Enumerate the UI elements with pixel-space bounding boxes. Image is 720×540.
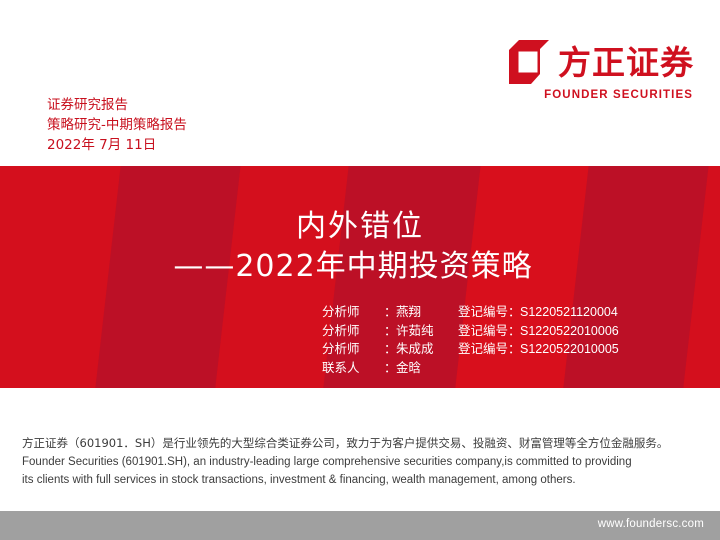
disclaimer-english-line1: Founder Securities (601901.SH), an indus…	[22, 453, 702, 471]
analyst-role-label: 联系人	[322, 359, 384, 377]
company-disclaimer: 方正证券（601901．SH）是行业领先的大型综合类证券公司，致力于为客户提供交…	[22, 434, 702, 489]
registration-number: S1220521120004	[520, 304, 618, 322]
report-type-label: 证券研究报告	[47, 95, 187, 115]
analyst-list: 分析师：燕翔登记编号：S1220521120004分析师：许茹纯登记编号：S12…	[322, 303, 619, 376]
report-meta: 证券研究报告 策略研究-中期策略报告 2022年 7月 11日	[47, 95, 187, 155]
analyst-colon: ：	[384, 340, 396, 358]
registration-number: S1220522010005	[520, 341, 619, 359]
analyst-name: 燕翔	[396, 303, 458, 321]
company-logo: 方正证券 FOUNDER SECURITIES	[509, 40, 694, 101]
analyst-colon: ：	[384, 359, 396, 377]
analyst-role-label: 分析师	[322, 303, 384, 321]
logo-row: 方正证券	[509, 40, 694, 84]
banner-content: 内外错位 ——2022年中期投资策略 分析师：燕翔登记编号：S122052112…	[0, 166, 720, 388]
disclaimer-chinese: 方正证券（601901．SH）是行业领先的大型综合类证券公司，致力于为客户提供交…	[22, 434, 702, 453]
report-category-label: 策略研究-中期策略报告	[47, 115, 187, 135]
analyst-role-label: 分析师	[322, 340, 384, 358]
analyst-name: 金晗	[396, 359, 458, 377]
logo-name-en: FOUNDER SECURITIES	[544, 89, 693, 101]
analyst-name: 朱成成	[396, 340, 458, 358]
registration-colon: ：	[508, 322, 520, 340]
registration-number: S1220522010006	[520, 323, 619, 341]
analyst-role-label: 分析师	[322, 322, 384, 340]
founder-hexagon-logo-icon	[509, 40, 549, 84]
title-block: 内外错位 ——2022年中期投资策略	[0, 208, 720, 288]
page-title: 内外错位	[0, 208, 720, 246]
analyst-name: 许茹纯	[396, 322, 458, 340]
registration-label: 登记编号	[458, 303, 508, 321]
analyst-colon: ：	[384, 322, 396, 340]
page-footer: www.foundersc.com	[0, 511, 720, 540]
analyst-row: 分析师：朱成成登记编号：S1220522010005	[322, 340, 619, 359]
analyst-row: 分析师：燕翔登记编号：S1220521120004	[322, 303, 619, 322]
page-subtitle: ——2022年中期投资策略	[0, 246, 720, 288]
analyst-row: 联系人：金晗	[322, 359, 619, 377]
report-date-label: 2022年 7月 11日	[47, 135, 187, 155]
registration-label: 登记编号	[458, 322, 508, 340]
analyst-colon: ：	[384, 303, 396, 321]
title-banner: 内外错位 ——2022年中期投资策略 分析师：燕翔登记编号：S122052112…	[0, 166, 720, 388]
logo-name-cn: 方正证券	[558, 46, 694, 79]
registration-colon: ：	[508, 340, 520, 358]
website-url[interactable]: www.foundersc.com	[598, 518, 704, 530]
analyst-row: 分析师：许茹纯登记编号：S1220522010006	[322, 322, 619, 341]
page-header: 方正证券 FOUNDER SECURITIES 证券研究报告 策略研究-中期策略…	[0, 0, 720, 166]
disclaimer-english-line2: its clients with full services in stock …	[22, 471, 702, 489]
registration-label: 登记编号	[458, 340, 508, 358]
registration-colon: ：	[508, 303, 520, 321]
